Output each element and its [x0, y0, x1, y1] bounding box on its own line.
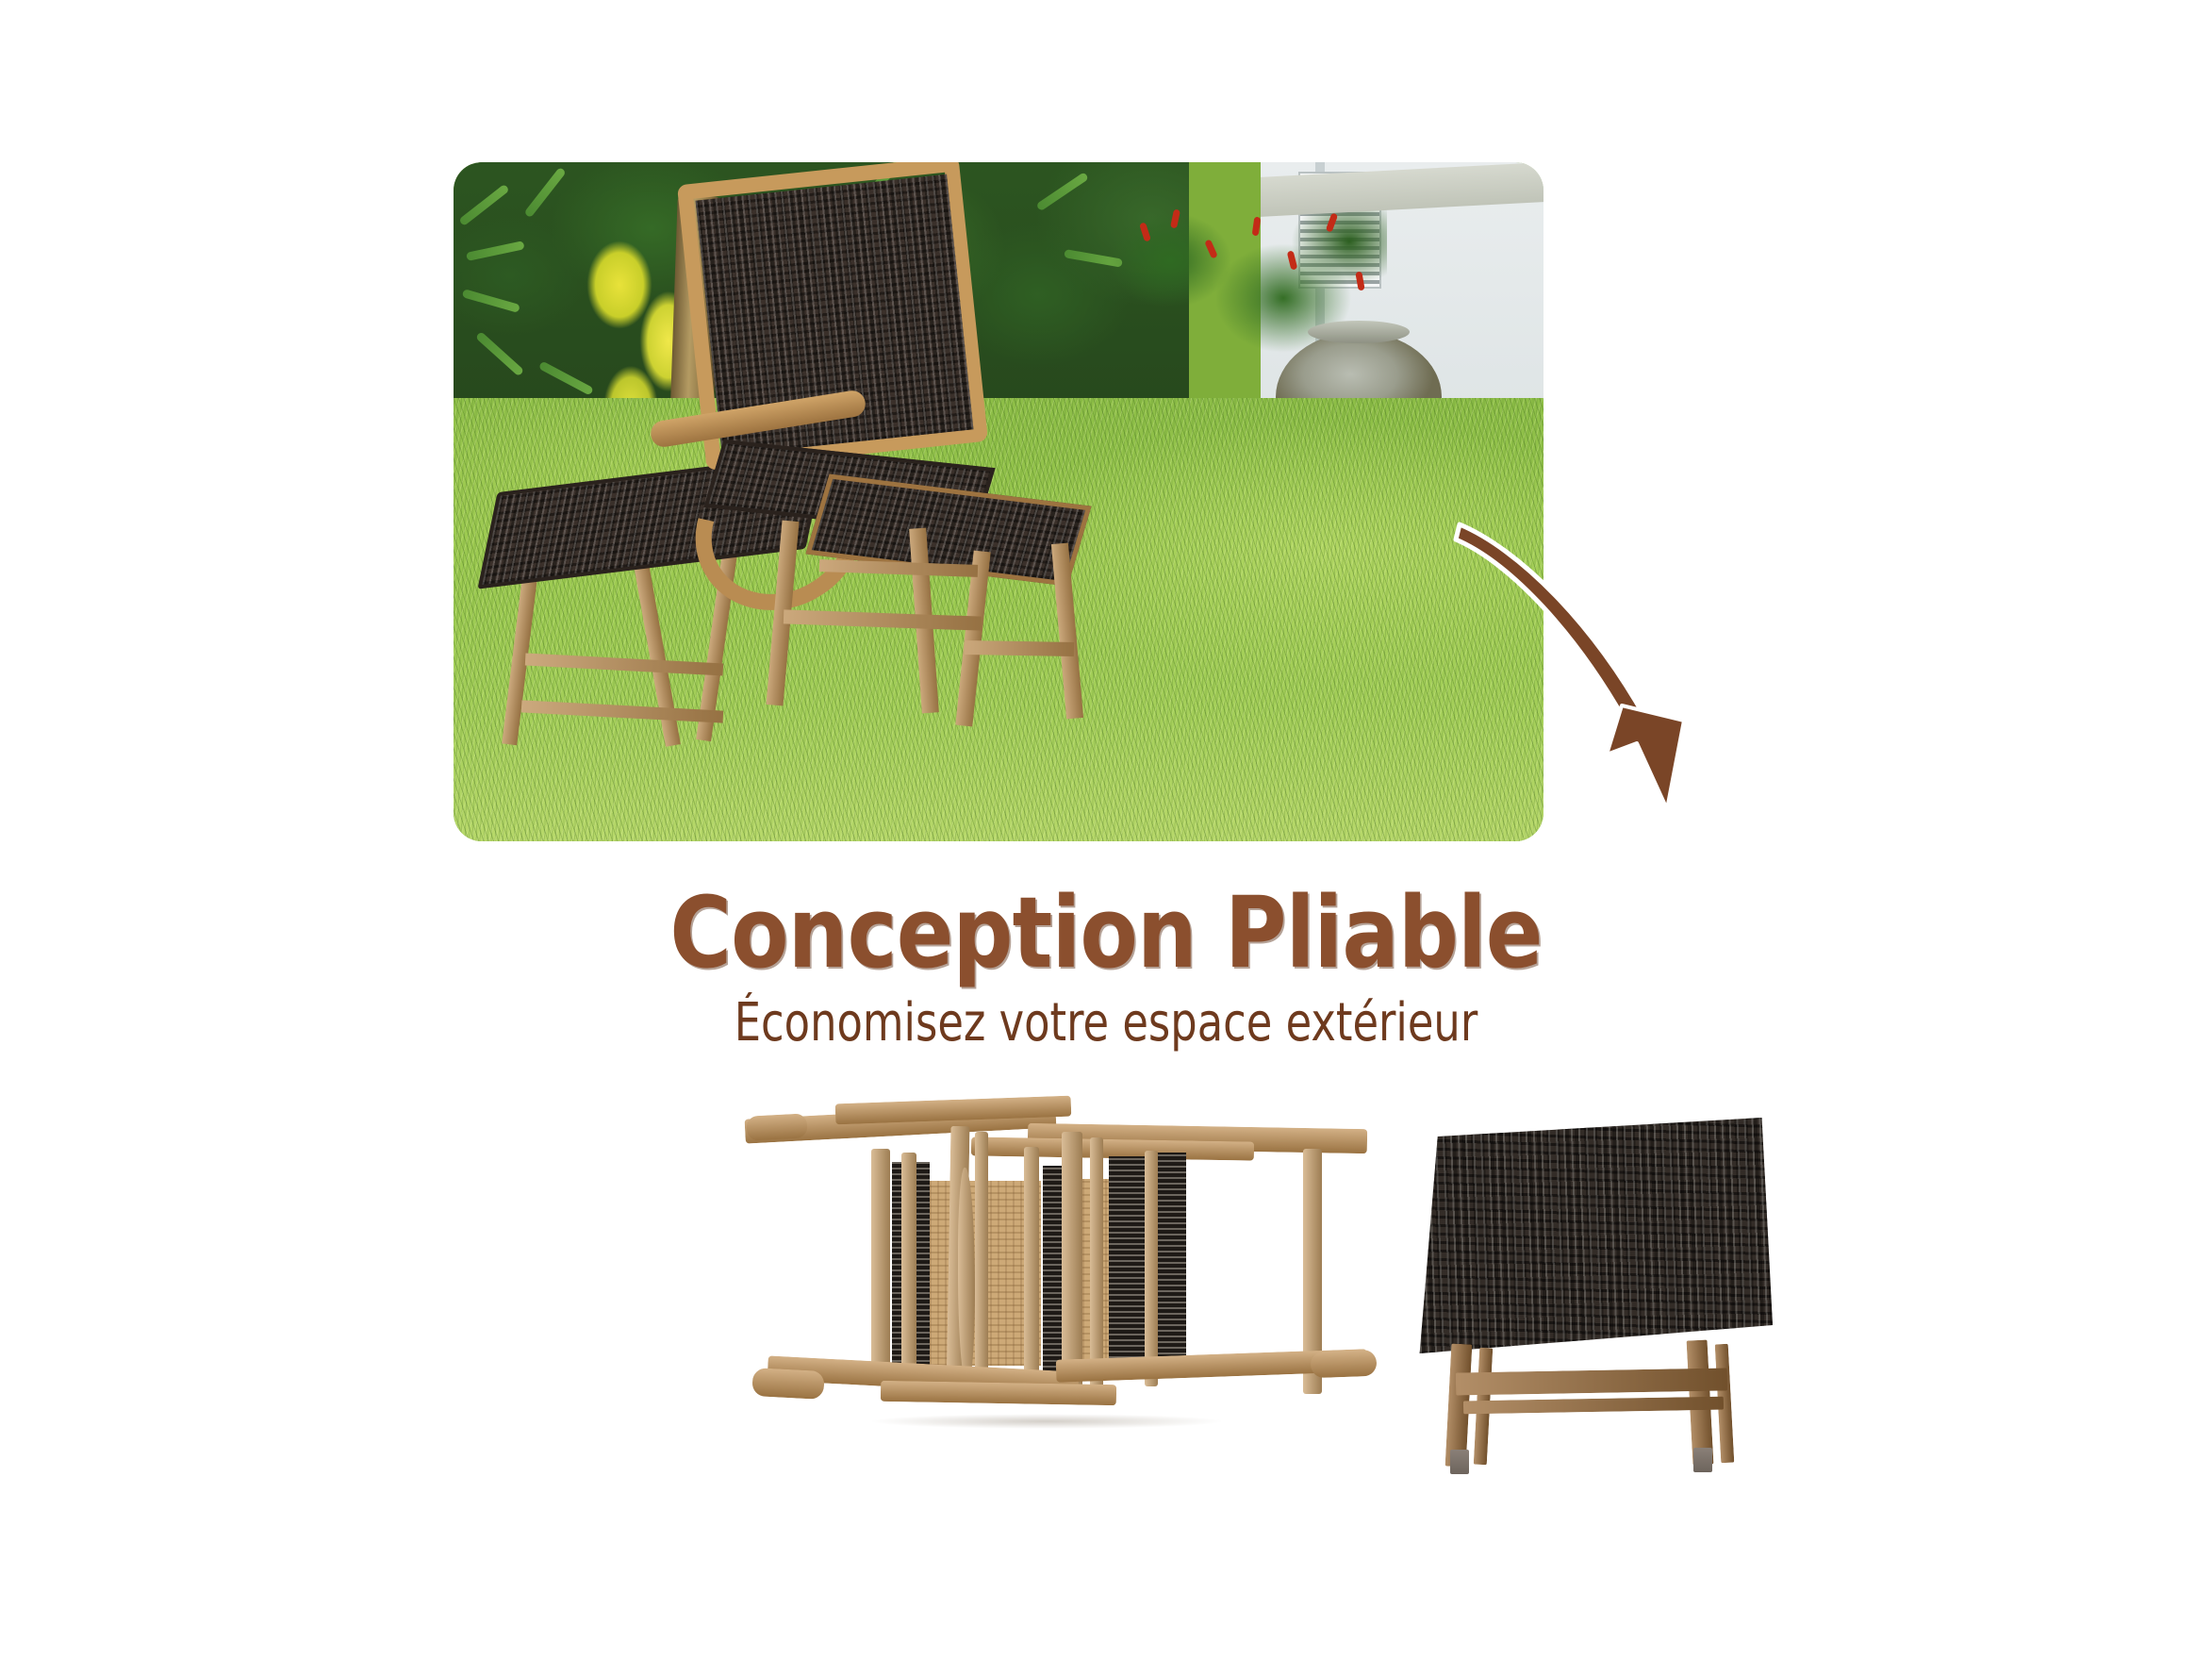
chair-frame-slat	[901, 1153, 916, 1379]
chair-wicker-edge	[1154, 1153, 1186, 1377]
chair-leg	[1051, 543, 1083, 720]
urn-lip	[1308, 321, 1410, 343]
table-foot	[1693, 1448, 1712, 1472]
table-stretcher	[1456, 1368, 1727, 1395]
chair-foot	[1311, 1350, 1378, 1378]
chair-foot	[746, 1113, 807, 1140]
chair-frame-slat	[871, 1149, 890, 1385]
table-wicker-top	[1412, 1118, 1773, 1353]
chair-frame-slat	[1090, 1137, 1103, 1390]
chair-stretcher	[965, 640, 1074, 656]
chair-stretcher	[784, 609, 982, 630]
garden-scene	[454, 162, 1543, 841]
chair-foot	[751, 1368, 824, 1400]
chair-rail	[881, 1381, 1116, 1405]
table-stretcher	[1463, 1397, 1724, 1415]
chair-frame-slat	[975, 1132, 988, 1388]
folding-lounge-chair	[633, 170, 1293, 792]
chair-frame-slat	[1062, 1132, 1082, 1396]
red-berry	[1355, 272, 1364, 291]
drop-shadow	[801, 1411, 1292, 1432]
page-subtitle: Économisez votre espace extérieur	[222, 992, 1991, 1053]
folded-side-table-image	[1395, 1118, 1791, 1471]
red-berry	[1326, 212, 1338, 232]
page-title: Conception Pliable	[155, 875, 2057, 990]
arrow-head	[1607, 705, 1684, 809]
chair-frame-slat	[1024, 1147, 1039, 1385]
chair-frame-slat	[1145, 1151, 1158, 1386]
table-foot	[1450, 1450, 1469, 1474]
hero-product-photo	[454, 162, 1543, 841]
folded-lounge-chair-image	[745, 1094, 1386, 1443]
curved-down-right-arrow	[1452, 490, 1754, 830]
